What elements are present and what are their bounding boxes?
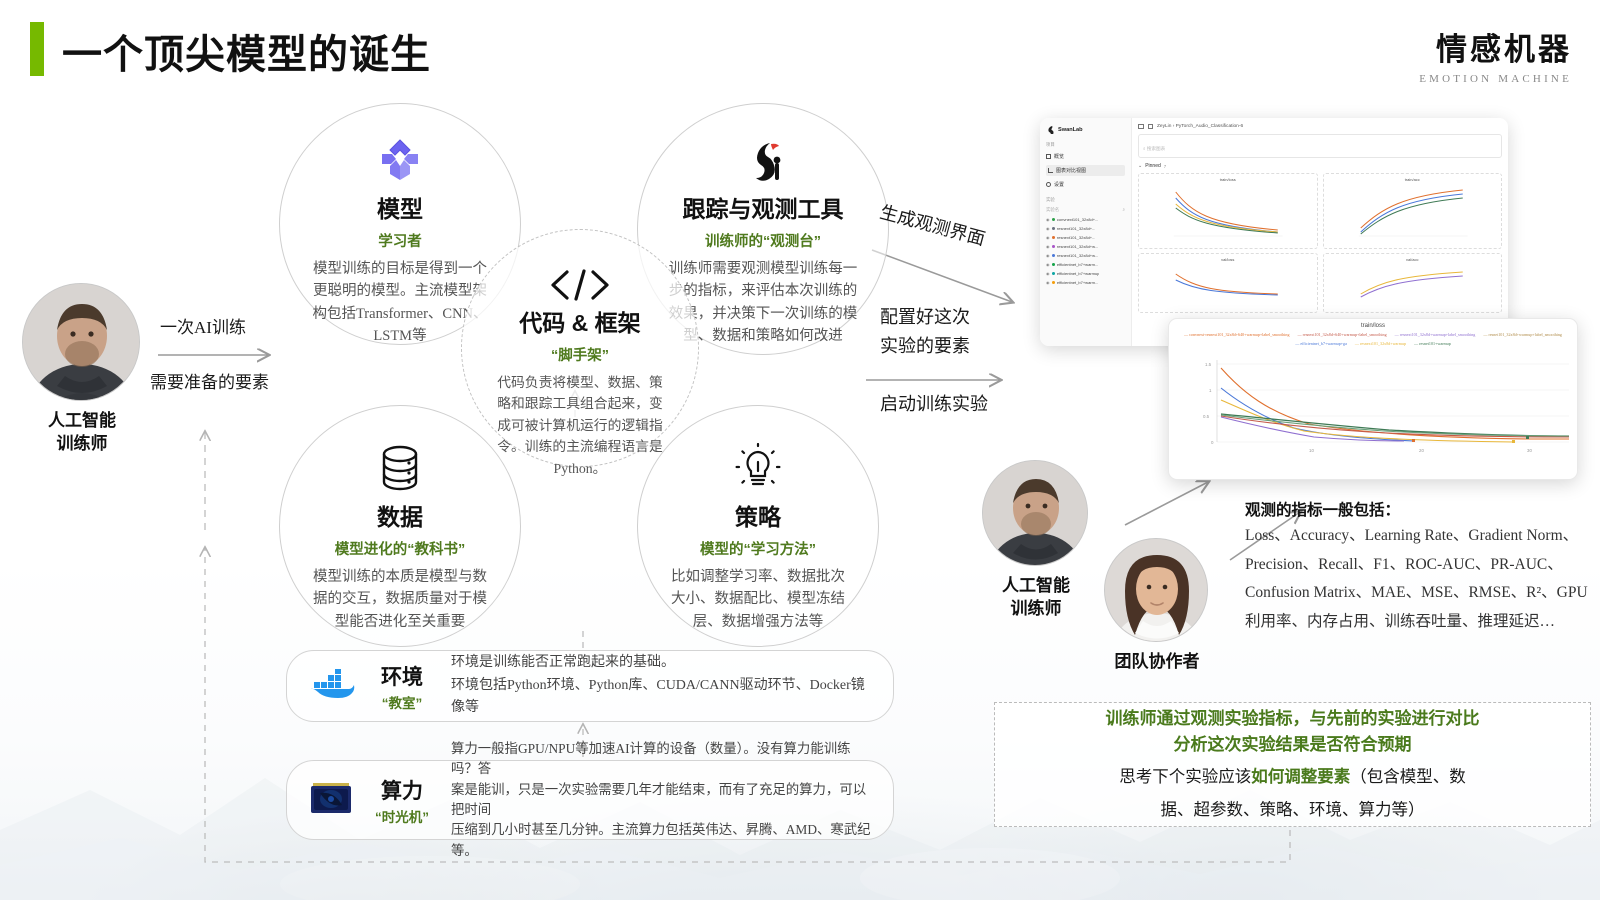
mini-chart-plot (1142, 182, 1314, 240)
person-trainer-right: 人工智能 训练师 (982, 460, 1090, 621)
pill-body: 环境是训练能否正常跑起来的基础。 环境包括Python环境、Python库、CU… (445, 652, 875, 720)
circle-strategy: 策略 模型的“学习方法” 比如调整学习率、数据批次大小、数据配比、模型冻结层、数… (637, 405, 879, 647)
circle-code-framework: 代码 & 框架 “脚手架” 代码负责将模型、数据、策略和跟踪工具组合起来，变成可… (461, 229, 699, 467)
circle-data: 数据 模型进化的“教科书” 模型训练的本质是模型与数据的交互，数据质量对于模型能… (279, 405, 521, 647)
arrow-label-one-training: 一次AI训练 (160, 313, 246, 338)
run-list-item[interactable]: ◉convnext101_32x8d+... (1046, 217, 1125, 222)
eye-icon[interactable]: ◉ (1046, 262, 1050, 267)
run-color-dot (1052, 227, 1055, 230)
eye-icon[interactable]: ◉ (1046, 235, 1050, 240)
chart-plot-area[interactable]: 1.51 0.50 102030 (1169, 346, 1578, 458)
eye-icon[interactable]: ◉ (1046, 253, 1050, 258)
pill-body-line2: 案是能训，只是一次实验需要几年才能结束，而有了充足的算力，可以把时间 (451, 780, 875, 821)
breadcrumb: ZeyLin › PyTorch_Audio_Classification-6 (1157, 124, 1243, 129)
pill-subtitle: “教室” (359, 692, 445, 712)
mini-chart-plot (1142, 262, 1314, 304)
run-color-dot (1052, 254, 1055, 257)
metrics-heading: 观测的指标一般包括： (1245, 498, 1593, 520)
gear-icon (1046, 182, 1051, 187)
sidebar-item-settings[interactable]: 设置 (1046, 181, 1125, 188)
conclusion-line-2: 分析这次实验结果是否符合预期 (1174, 732, 1412, 758)
arrow-label-configure-2: 实验的要素 (880, 332, 970, 358)
run-color-dot (1052, 218, 1055, 221)
circle-title: 模型 (377, 190, 423, 224)
svg-text:0.5: 0.5 (1203, 414, 1210, 419)
conclusion-line-3: 思考下个实验应该如何调整要素（包含模型、数 (1119, 764, 1466, 790)
legend-item[interactable]: — convnext-resnext101_32x8d+640+warmup+l… (1184, 332, 1290, 337)
svg-text:1: 1 (1209, 388, 1212, 393)
eye-icon[interactable]: ◉ (1046, 226, 1050, 231)
run-color-dot (1052, 236, 1055, 239)
brand-name-cn: 情感机器 (1419, 24, 1572, 69)
svg-text:1.5: 1.5 (1205, 362, 1212, 367)
panel-toggle-icon[interactable] (1138, 124, 1144, 129)
sidebar-section-project: 项目 (1046, 142, 1125, 148)
svg-text:30: 30 (1527, 448, 1532, 453)
run-filter-input[interactable]: 实验名 ⌕ (1046, 207, 1125, 213)
person-label: 团队协作者 (1104, 651, 1210, 674)
pill-body: 算力一般指GPU/NPU等加速AI计算的设备（数量）。没有算力能训练吗？答 案是… (445, 739, 875, 861)
mini-chart-card[interactable]: val/acc (1323, 253, 1503, 313)
pill-heading: 算力 “时光机” (359, 775, 445, 826)
circle-subtitle: “脚手架” (551, 344, 609, 365)
run-color-dot (1052, 281, 1055, 284)
pill-title: 算力 (359, 775, 445, 805)
mini-chart-plot (1327, 262, 1499, 304)
zoomed-chart-panel[interactable]: train/loss — convnext-resnext101_32x8d+6… (1168, 318, 1578, 480)
mini-chart-card[interactable]: train/acc (1323, 173, 1503, 249)
eye-icon[interactable]: ◉ (1046, 244, 1050, 249)
conclusion-line-1: 训练师通过观测实验指标，与先前的实验进行对比 (1106, 706, 1480, 732)
person-label-line2: 训练师 (57, 434, 108, 453)
run-list-item[interactable]: ◉efficientnet_b7+warm... (1046, 262, 1125, 267)
metrics-block: 观测的指标一般包括： Loss、Accuracy、Learning Rate、G… (1245, 498, 1593, 637)
chart-search-input[interactable]: ⌕ 搜索图表 (1138, 134, 1502, 158)
circle-subtitle: 模型进化的“教科书” (335, 538, 466, 559)
eye-icon[interactable]: ◉ (1046, 280, 1050, 285)
person-label-line2: 训练师 (1011, 599, 1062, 618)
legend-item[interactable]: — efficientnet_b7+warmup+ga (1295, 341, 1347, 346)
run-list-item[interactable]: ◉resnext101_32x8d+w... (1046, 253, 1125, 258)
arrow-label-required-elements: 需要准备的要素 (150, 368, 269, 393)
pinned-count: 7 (1164, 164, 1166, 169)
pill-subtitle: “时光机” (359, 806, 445, 826)
person-trainer-left: 人工智能 训练师 (22, 283, 142, 456)
gpu-card-icon (305, 780, 359, 820)
pytorch-logo-icon (374, 136, 426, 188)
mini-chart-card[interactable]: train/loss (1138, 173, 1318, 249)
sidebar-item-label: 设置 (1054, 181, 1064, 188)
sidebar-item-overview[interactable]: 概览 (1046, 153, 1125, 160)
circle-subtitle: 模型的“学习方法” (700, 538, 816, 559)
run-name: resnext101_32x8d+w... (1057, 253, 1098, 258)
run-list-item[interactable]: ◉efficientnet_b7+warmup (1046, 271, 1125, 276)
circle-title: 数据 (377, 498, 423, 532)
run-name: efficientnet_b7+warm... (1057, 280, 1098, 285)
run-list-item[interactable]: ◉resnext101_32x8d+w... (1046, 244, 1125, 249)
run-name: efficientnet_b7+warm... (1057, 262, 1098, 267)
eye-icon[interactable]: ◉ (1046, 217, 1050, 222)
search-icon[interactable]: ⌕ (1123, 207, 1125, 213)
page-title: 一个顶尖模型的诞生 (62, 22, 431, 80)
chart-icon (1048, 168, 1053, 173)
conclusion-line-3-post: （包含模型、数 (1350, 768, 1466, 786)
run-name: convnext101_32x8d+... (1057, 217, 1098, 222)
circle-title: 策略 (735, 498, 781, 532)
circle-subtitle: 训练师的“观测台” (705, 230, 821, 251)
pill-heading: 环境 “教室” (359, 661, 445, 712)
sidebar-item-label: 概览 (1054, 153, 1064, 160)
mini-chart-plot (1327, 182, 1499, 240)
pill-compute: 算力 “时光机” 算力一般指GPU/NPU等加速AI计算的设备（数量）。没有算力… (286, 760, 894, 840)
eye-icon[interactable]: ◉ (1046, 271, 1050, 276)
pill-title: 环境 (359, 661, 445, 691)
chevron-down-icon[interactable]: ⌄ (1138, 163, 1142, 169)
circle-title: 跟踪与观测工具 (683, 190, 844, 224)
run-name: resnext101_32x8d+... (1057, 226, 1096, 231)
pill-body-line1: 环境是训练能否正常跑起来的基础。 (451, 652, 875, 675)
dashboard-sidebar[interactable]: SwanLab 项目 概览 图表对比视图 设置 实验 实验名 (1040, 118, 1132, 346)
swanlab-dashboard-window[interactable]: SwanLab 项目 概览 图表对比视图 设置 实验 实验名 (1040, 118, 1508, 346)
legend-item[interactable]: — resnet101_32x8d+warmup+label_smoothing (1483, 332, 1562, 337)
conclusion-line-3-pre: 思考下个实验应该 (1119, 768, 1251, 786)
run-filter-placeholder: 实验名 (1046, 207, 1059, 213)
docker-whale-icon (305, 668, 359, 704)
code-brackets-icon (547, 268, 613, 302)
run-color-dot (1052, 263, 1055, 266)
pill-body-line1: 算力一般指GPU/NPU等加速AI计算的设备（数量）。没有算力能训练吗？答 (451, 739, 875, 780)
run-color-dot (1052, 272, 1055, 275)
search-placeholder: ⌕ 搜索图表 (1143, 146, 1165, 151)
avatar-photo-female (1105, 539, 1208, 642)
infographic-canvas: 一个顶尖模型的诞生 情感机器 EMOTION MACHINE (0, 0, 1600, 900)
svg-text:10: 10 (1309, 448, 1314, 453)
conclusion-box: 训练师通过观测实验指标，与先前的实验进行对比 分析这次实验结果是否符合预期 思考… (994, 702, 1591, 827)
circle-body: 模型训练的本质是模型与数据的交互，数据质量对于模型能否进化至关重要 (308, 566, 492, 633)
chart-legend: — convnext-resnext101_32x8d+640+warmup+l… (1169, 329, 1577, 346)
sidebar-section-experiment: 实验 (1046, 197, 1125, 203)
person-collaborator: 团队协作者 (1104, 538, 1210, 674)
run-name: efficientnet_b7+warmup (1057, 271, 1100, 276)
run-list[interactable]: ◉convnext101_32x8d+...◉resnext101_32x8d+… (1046, 217, 1125, 285)
circle-body: 比如调整学习率、数据批次大小、数据配比、模型冻结层、数据增强方法等 (668, 566, 848, 633)
brand-logo: 情感机器 EMOTION MACHINE (1419, 24, 1572, 85)
swanlab-logo-icon (1046, 125, 1055, 134)
title-accent-bar (30, 22, 44, 76)
sidebar-item-chart-compare[interactable]: 图表对比视图 (1046, 165, 1125, 176)
legend-item[interactable]: — resnext101_32x8d+warmup+label_smoothin… (1395, 332, 1476, 337)
run-list-item[interactable]: ◉resnext101_32x8d+... (1046, 235, 1125, 240)
sidebar-item-label: 图表对比视图 (1056, 167, 1086, 174)
run-list-item[interactable]: ◉resnext101_32x8d+... (1046, 226, 1125, 231)
dashboard-main: ZeyLin › PyTorch_Audio_Classification-6 … (1132, 118, 1508, 346)
database-icon (377, 440, 423, 496)
mini-chart-card[interactable]: val/loss (1138, 253, 1318, 313)
home-icon[interactable] (1148, 124, 1153, 129)
arrow-label-start-experiment: 启动训练实验 (880, 390, 988, 416)
person-label: 人工智能 训练师 (22, 410, 142, 456)
legend-item[interactable]: — resnext101_32x8d+640+warmup+label_smoo… (1298, 332, 1387, 337)
avatar-photo-male (983, 461, 1088, 566)
run-name: resnext101_32x8d+w... (1057, 244, 1098, 249)
pinned-label: Pinned (1145, 163, 1161, 169)
person-label: 人工智能 训练师 (982, 575, 1090, 621)
metrics-text: Loss、Accuracy、Learning Rate、Gradient Nor… (1245, 522, 1593, 637)
conclusion-line-4: 据、超参数、策略、环境、算力等） (1161, 797, 1425, 823)
conclusion-highlight: 如何调整要素 (1251, 768, 1350, 786)
arrow-label-configure-1: 配置好这次 (880, 303, 970, 329)
circle-subtitle: 学习者 (378, 230, 422, 251)
overview-icon (1046, 154, 1051, 159)
circle-body: 代码负责将模型、数据、策略和跟踪工具组合起来，变成可被计算机运行的逻辑指令。训练… (492, 372, 668, 479)
run-color-dot (1052, 245, 1055, 248)
arrow-label-generate-dashboard: 生成观测界面 (877, 198, 988, 251)
svg-text:20: 20 (1419, 448, 1424, 453)
run-list-item[interactable]: ◉efficientnet_b7+warm... (1046, 280, 1125, 285)
avatar (982, 460, 1088, 566)
avatar (1104, 538, 1208, 642)
run-name: resnext101_32x8d+... (1057, 235, 1096, 240)
swanlab-logo-icon (737, 132, 789, 188)
brand-name-en: EMOTION MACHINE (1419, 73, 1572, 85)
person-label-line1: 人工智能 (1002, 576, 1070, 595)
pill-body-line3: 压缩到几小时甚至几分钟。主流算力包括英伟达、昇腾、AMD、寒武纪等。 (451, 820, 875, 861)
svg-text:0: 0 (1211, 440, 1214, 445)
person-label-line1: 人工智能 (48, 411, 116, 430)
pill-body-line2: 环境包括Python环境、Python库、CUDA/CANN驱动环节、Docke… (451, 675, 875, 720)
legend-item[interactable]: — resnet101+warmup (1414, 341, 1451, 346)
legend-item[interactable]: — resnext101_32x8d+warmup (1355, 341, 1406, 346)
avatar-photo-male (23, 284, 140, 401)
avatar (22, 283, 140, 401)
lightbulb-icon (734, 440, 782, 496)
pill-environment: 环境 “教室” 环境是训练能否正常跑起来的基础。 环境包括Python环境、Py… (286, 650, 894, 722)
circle-title: 代码 & 框架 (519, 304, 640, 338)
dashboard-brand: SwanLab (1058, 127, 1083, 133)
